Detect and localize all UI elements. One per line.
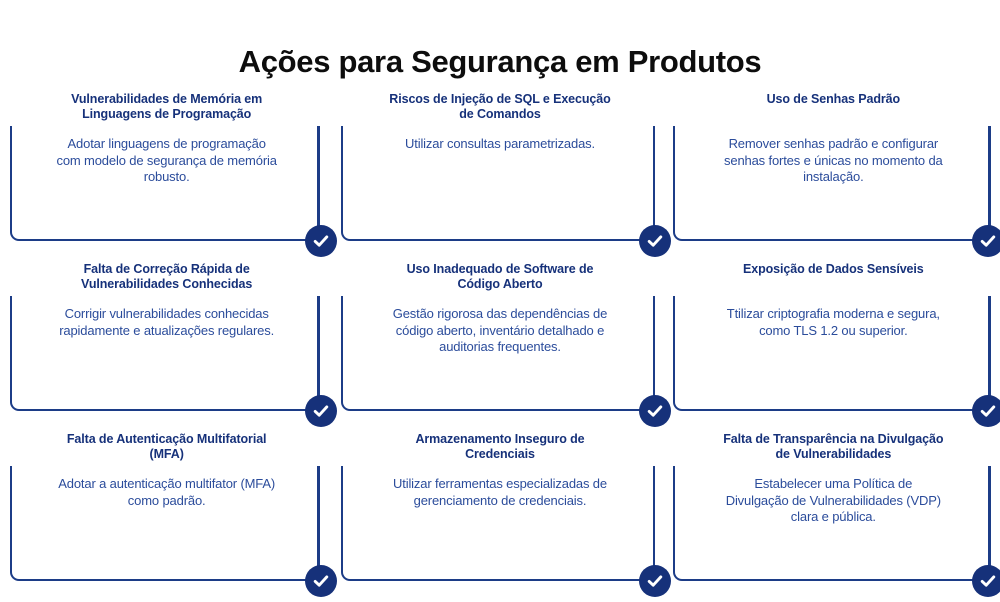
- card-body: Estabelecer uma Política de Divulgação d…: [687, 476, 980, 572]
- card-body: Ttilizar criptografia moderna e segura, …: [687, 306, 980, 402]
- card-text: Gestão rigorosa das dependências de códi…: [389, 306, 611, 356]
- card-text: Utilizar ferramentas especializadas de g…: [389, 476, 611, 509]
- card-item: Riscos de Injeção de SQL e Execução de C…: [333, 92, 666, 262]
- card-body: Gestão rigorosa das dependências de códi…: [353, 306, 646, 402]
- card-body: Utilizar consultas parametrizadas.: [353, 136, 646, 232]
- card-title: Exposição de Dados Sensíveis: [718, 262, 948, 277]
- card-text: Estabelecer uma Política de Divulgação d…: [722, 476, 944, 526]
- check-circle-icon: [972, 225, 1000, 257]
- card-item: Exposição de Dados Sensíveis Ttilizar cr…: [667, 262, 1000, 432]
- card-body: Utilizar ferramentas especializadas de g…: [353, 476, 646, 572]
- check-circle-icon: [972, 395, 1000, 427]
- card-text: Corrigir vulnerabilidades conhecidas rap…: [56, 306, 278, 339]
- card-body: Remover senhas padrão e configurar senha…: [687, 136, 980, 232]
- cards-grid: Vulnerabilidades de Memória em Linguagen…: [0, 92, 1000, 602]
- card-body: Corrigir vulnerabilidades conhecidas rap…: [20, 306, 313, 402]
- page-title: Ações para Segurança em Produtos: [0, 43, 1000, 80]
- check-circle-icon: [639, 225, 671, 257]
- card-text: Adotar linguagens de programação com mod…: [56, 136, 278, 186]
- card-item: Armazenamento Inseguro de Credenciais Ut…: [333, 432, 666, 602]
- check-circle-icon: [639, 565, 671, 597]
- card-body: Adotar linguagens de programação com mod…: [20, 136, 313, 232]
- card-item: Falta de Correção Rápida de Vulnerabilid…: [0, 262, 333, 432]
- card-text: Adotar a autenticação multifator (MFA) c…: [56, 476, 278, 509]
- card-text: Remover senhas padrão e configurar senha…: [722, 136, 944, 186]
- card-item: Uso de Senhas Padrão Remover senhas padr…: [667, 92, 1000, 262]
- card-title: Falta de Autenticação Multifatorial (MFA…: [52, 432, 282, 463]
- card-title: Uso de Senhas Padrão: [718, 92, 948, 107]
- check-circle-icon: [972, 565, 1000, 597]
- card-text: Ttilizar criptografia moderna e segura, …: [722, 306, 944, 339]
- card-text: Utilizar consultas parametrizadas.: [405, 136, 595, 153]
- card-title: Falta de Correção Rápida de Vulnerabilid…: [52, 262, 282, 293]
- check-circle-icon: [639, 395, 671, 427]
- infographic-page: Ações para Segurança em Produtos Vulnera…: [0, 0, 1000, 600]
- card-item: Falta de Autenticação Multifatorial (MFA…: [0, 432, 333, 602]
- card-title: Armazenamento Inseguro de Credenciais: [385, 432, 615, 463]
- card-title: Vulnerabilidades de Memória em Linguagen…: [52, 92, 282, 123]
- card-title: Riscos de Injeção de SQL e Execução de C…: [385, 92, 615, 123]
- card-title: Falta de Transparência na Divulgação de …: [718, 432, 948, 463]
- card-item: Vulnerabilidades de Memória em Linguagen…: [0, 92, 333, 262]
- card-title: Uso Inadequado de Software de Código Abe…: [385, 262, 615, 293]
- card-item: Uso Inadequado de Software de Código Abe…: [333, 262, 666, 432]
- card-body: Adotar a autenticação multifator (MFA) c…: [20, 476, 313, 572]
- card-item: Falta de Transparência na Divulgação de …: [667, 432, 1000, 602]
